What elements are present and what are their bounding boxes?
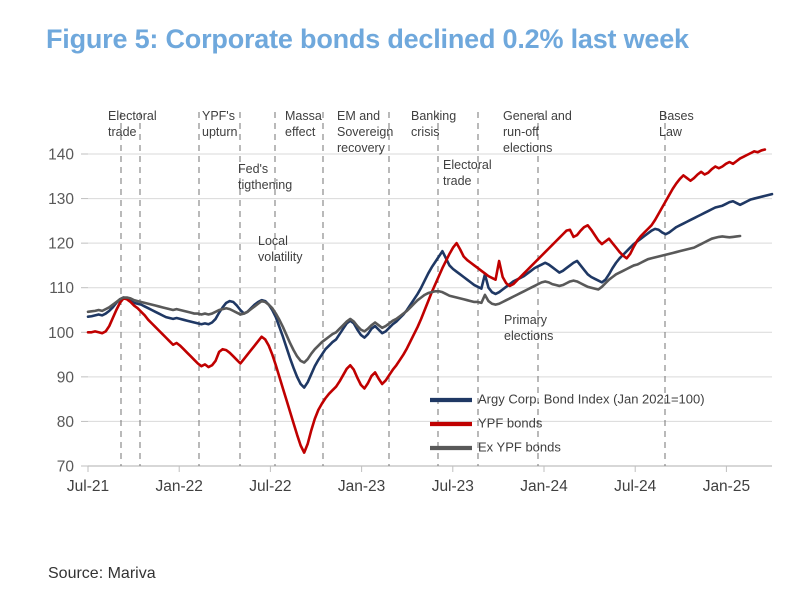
y-axis-label: 90: [57, 369, 75, 386]
chart-annotation: tigthening: [238, 178, 292, 192]
chart-annotation: trade: [108, 125, 137, 139]
y-axis-label: 80: [57, 414, 75, 431]
chart-annotation: upturn: [202, 125, 237, 139]
x-axis-label: Jul-24: [614, 478, 657, 495]
x-axis-label: Jul-23: [432, 478, 474, 495]
y-axis-label: 100: [48, 325, 74, 342]
chart-annotation: Primary: [504, 313, 548, 327]
x-axis-label: Jan-25: [703, 478, 750, 495]
line-chart: 708090100110120130140Jul-21Jan-22Jul-22J…: [0, 100, 800, 500]
y-axis-label: 110: [49, 280, 74, 297]
chart-annotation: YPF's: [202, 109, 235, 123]
chart-annotation: Massa: [285, 109, 322, 123]
chart-annotation: Bases: [659, 109, 694, 123]
series-line: [88, 150, 765, 453]
source-label: Source: Mariva: [48, 565, 156, 583]
x-axis-label: Jan-22: [155, 478, 202, 495]
legend-label: Argy Corp. Bond Index (Jan 2021=100): [478, 391, 705, 406]
chart-annotation: Banking: [411, 109, 456, 123]
series-line: [88, 194, 772, 387]
chart-annotation: Law: [659, 125, 683, 139]
chart-annotation: Sovereign: [337, 125, 393, 139]
y-axis-label: 130: [48, 191, 74, 208]
x-axis-label: Jul-22: [249, 478, 291, 495]
chart-annotation: elections: [504, 329, 553, 343]
x-axis-label: Jan-24: [520, 478, 568, 495]
x-axis-label: Jan-23: [338, 478, 385, 495]
chart-annotation: volatility: [258, 250, 303, 264]
legend-label: YPF bonds: [478, 415, 543, 430]
chart-annotation: Electoral: [108, 109, 157, 123]
chart-annotation: run-off: [503, 125, 539, 139]
y-axis-label: 70: [57, 459, 75, 476]
chart-annotation: crisis: [411, 125, 439, 139]
chart-annotation: EM and: [337, 109, 380, 123]
chart-annotation: Electoral: [443, 158, 492, 172]
legend-label: Ex YPF bonds: [478, 439, 561, 454]
chart-annotation: recovery: [337, 141, 386, 155]
y-axis-label: 120: [48, 236, 74, 253]
chart-annotation: General and: [503, 109, 572, 123]
chart-annotation: Fed's: [238, 162, 268, 176]
chart-annotation: effect: [285, 125, 316, 139]
page-title: Figure 5: Corporate bonds declined 0.2% …: [46, 22, 786, 57]
chart-annotation: Local: [258, 234, 288, 248]
chart-annotation: elections: [503, 141, 552, 155]
x-axis-label: Jul-21: [67, 478, 109, 495]
chart-annotation: trade: [443, 174, 472, 188]
y-axis-label: 140: [48, 147, 74, 164]
chart-container: 708090100110120130140Jul-21Jan-22Jul-22J…: [0, 100, 800, 500]
